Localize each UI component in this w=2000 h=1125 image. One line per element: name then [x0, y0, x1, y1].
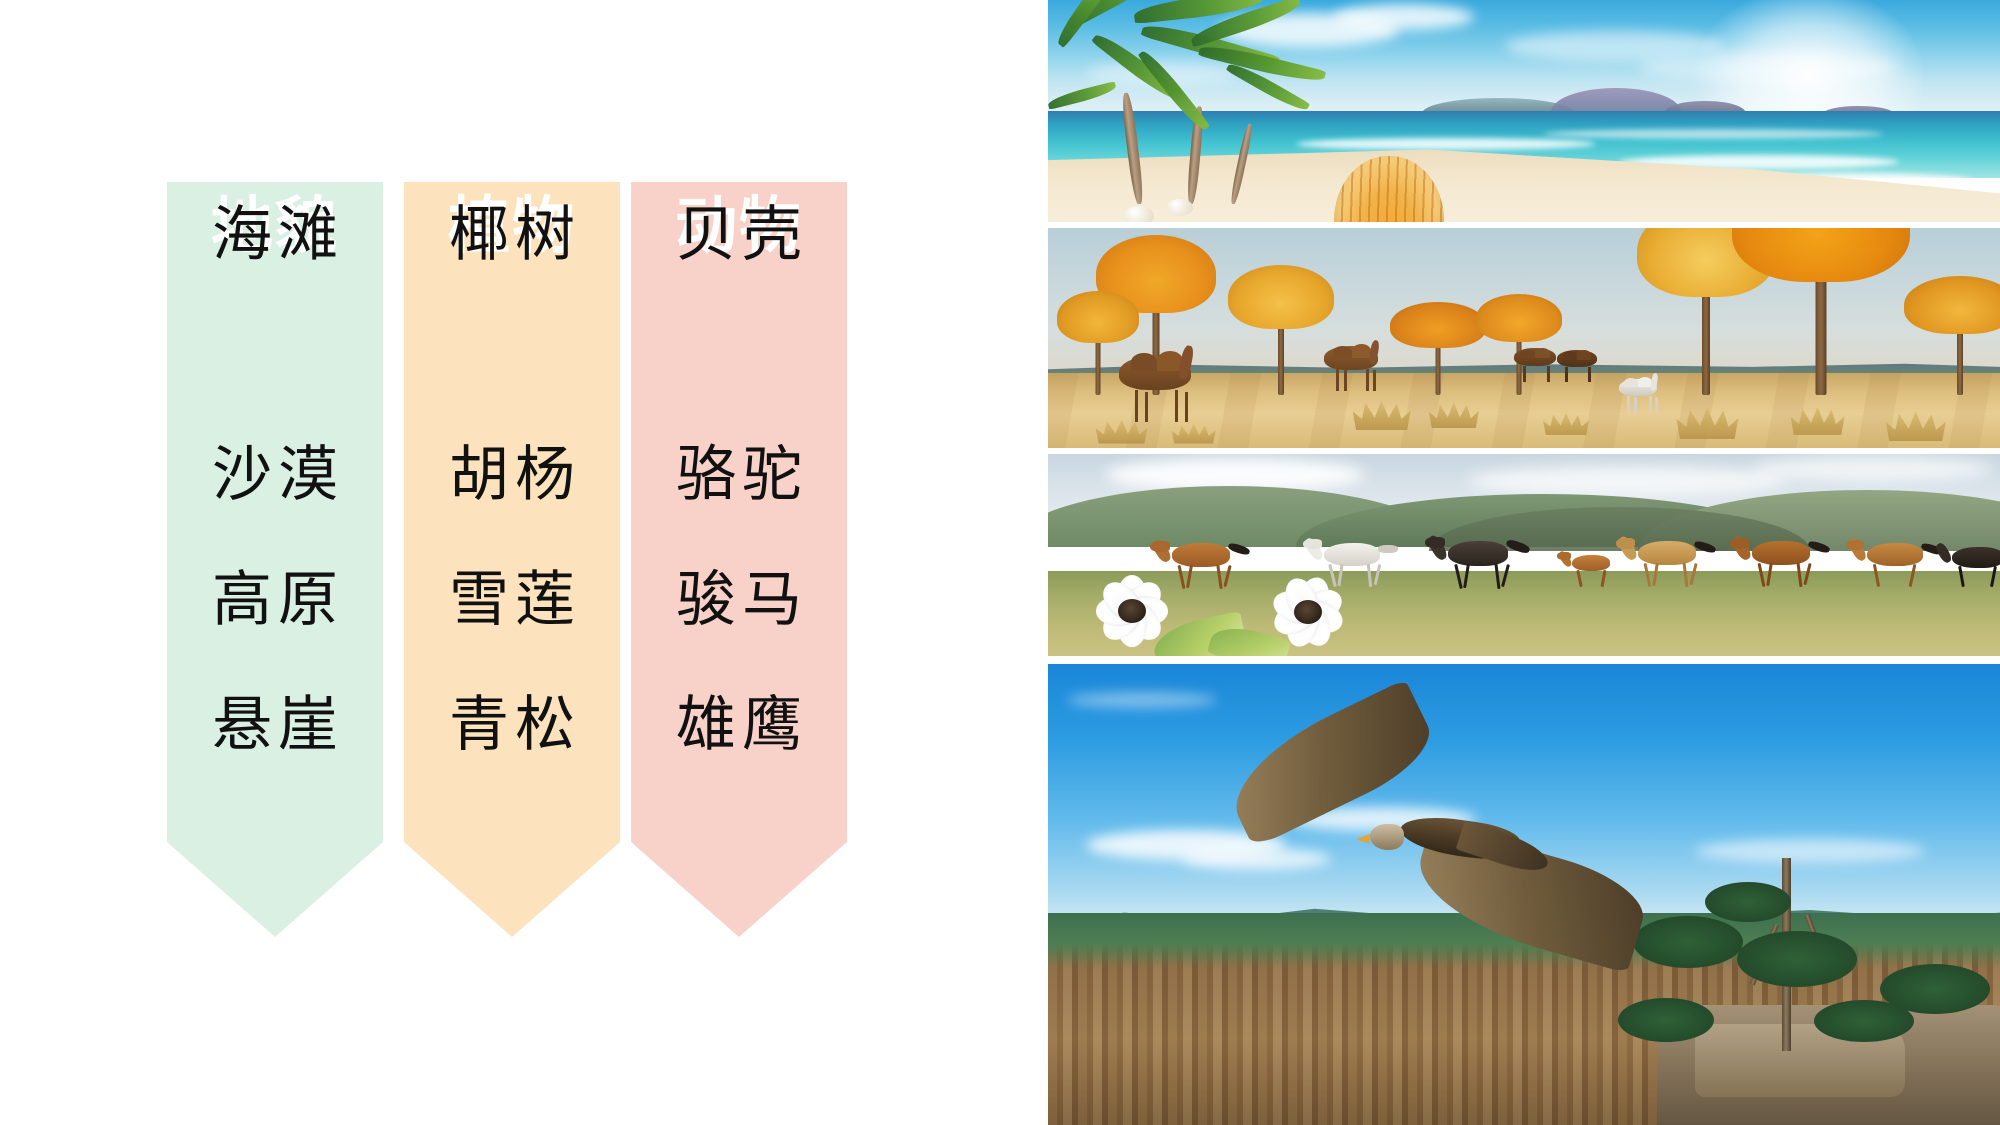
camel-leg [1634, 397, 1637, 413]
camel-leg [1145, 392, 1148, 422]
poplar-tree [1733, 228, 1908, 395]
camel-leg [1649, 396, 1652, 413]
horse-leg [1501, 564, 1509, 587]
horse [1448, 541, 1530, 591]
camel-hump [1624, 378, 1638, 387]
horse-tail [1505, 538, 1531, 555]
poplar-crown [1228, 265, 1334, 329]
horse-head [1616, 538, 1635, 549]
camel-leg [1336, 369, 1339, 391]
poplar-trunk [1278, 323, 1284, 395]
pine-foliage [1737, 931, 1857, 987]
camel-neck [1368, 340, 1380, 365]
horse-body [1638, 541, 1696, 565]
column-arrow-plants [404, 842, 620, 937]
camel-hump [1131, 353, 1157, 371]
beach-foam [1296, 138, 1596, 150]
cliff-scene [1048, 664, 2000, 1125]
horse-head [1150, 541, 1170, 552]
horse-head [1425, 537, 1445, 548]
horse-leg [1223, 565, 1231, 587]
camel-hump [1520, 349, 1535, 358]
poplar-crown [1057, 291, 1139, 343]
horse-leg [1644, 563, 1651, 587]
camel-leg [1135, 390, 1138, 422]
horse-leg [1767, 563, 1773, 586]
horse-tail [1808, 540, 1831, 554]
camel [1324, 335, 1394, 391]
category-column-animals[interactable]: 动物 [631, 182, 847, 902]
lotus-center [1118, 599, 1146, 623]
horse-leg [1873, 564, 1880, 587]
beach-pebble [1167, 199, 1193, 216]
camel-leg [1588, 367, 1591, 382]
column-arrow-animals [631, 842, 847, 937]
poplar-trunk [1702, 281, 1710, 395]
foal [1572, 555, 1624, 589]
eagle-beak [1356, 834, 1370, 844]
poplar-tree [1229, 275, 1334, 395]
horse-body [1952, 547, 2000, 568]
horse [1952, 547, 2000, 589]
horse-leg [1374, 564, 1381, 585]
photo-beach [1048, 0, 2000, 222]
horse-body [1752, 541, 1810, 565]
horse-head [1303, 539, 1322, 549]
poplar-trunk [1957, 330, 1963, 395]
poplar-tree [1391, 309, 1486, 395]
white-camel [1619, 369, 1669, 413]
plateau-cloud [1752, 456, 1992, 482]
column-body-landform [167, 182, 383, 842]
horse-leg [1690, 563, 1698, 585]
camel-leg [1523, 366, 1526, 382]
poplar-crown [1390, 302, 1486, 348]
horse-head [1846, 540, 1864, 550]
column-body-animals [631, 182, 847, 842]
horse-body [1867, 543, 1923, 566]
photo-desert [1048, 228, 2000, 448]
horse-body [1572, 555, 1610, 571]
camel-leg [1344, 370, 1347, 391]
camel-leg [1373, 370, 1376, 391]
horse-leg [1186, 565, 1192, 588]
horse-leg [1600, 570, 1605, 587]
camel-hump [1563, 351, 1577, 360]
horse-leg [1652, 563, 1658, 586]
horse-tail [1378, 545, 1398, 553]
horse-leg [1494, 564, 1500, 589]
camel-leg [1627, 396, 1630, 413]
horse-leg [1216, 565, 1222, 589]
cliff-cloud [1067, 692, 1217, 708]
camel [1557, 342, 1609, 382]
horse [1638, 541, 1718, 589]
poplar-crown [1732, 228, 1910, 282]
snow-lotus-flower [1077, 556, 1187, 656]
horse-leg [1463, 564, 1469, 588]
camel [1119, 340, 1211, 422]
camel-leg [1175, 390, 1178, 422]
horse-leg [1576, 570, 1582, 587]
photo-strip [1048, 0, 2000, 1125]
column-body-plants [404, 182, 620, 842]
horse-leg [1758, 563, 1765, 587]
category-table: 地貌 植物 动物 海滩 沙漠 高原 悬崖 椰树 胡杨 雪莲 青松 贝壳 骆驼 骏… [0, 0, 1040, 1125]
horse-leg [1454, 564, 1462, 589]
horse [1752, 541, 1832, 589]
horse-leg [1804, 563, 1812, 585]
horse-tail [1694, 540, 1717, 554]
snow-lotus-flower [1248, 552, 1368, 656]
plateau-cloud [1467, 466, 1787, 496]
category-column-landform[interactable]: 地貌 [167, 182, 383, 902]
desert-scene [1048, 228, 2000, 448]
poplar-trunk [1095, 340, 1100, 395]
horse-head [1557, 552, 1571, 560]
column-arrow-landform [167, 842, 383, 937]
poplar-crown [1476, 294, 1562, 342]
beach-scene [1048, 0, 2000, 222]
poplar-crown [1904, 276, 2000, 334]
horse-body [1448, 541, 1508, 566]
category-column-plants[interactable]: 植物 [404, 182, 620, 902]
camel-leg [1366, 369, 1369, 391]
slide-canvas: 地貌 植物 动物 海滩 沙漠 高原 悬崖 椰树 胡杨 雪莲 青松 贝壳 骆驼 骏… [0, 0, 2000, 1125]
beach-pebble [1124, 206, 1154, 222]
poplar-trunk [1815, 268, 1826, 395]
camel-hump [1535, 348, 1550, 358]
horse-leg [1990, 566, 1996, 587]
photo-plateau [1048, 454, 2000, 656]
pine-foliage [1618, 998, 1714, 1042]
plateau-scene [1048, 454, 2000, 656]
pine-foliage [1705, 882, 1791, 922]
photo-cliff [1048, 664, 2000, 1125]
beach-foam [1543, 129, 1883, 139]
camel-neck [1178, 345, 1196, 381]
camel-hump [1333, 346, 1352, 358]
camel-hump [1352, 344, 1371, 358]
horse [1867, 543, 1945, 589]
camel-leg [1185, 392, 1188, 422]
camel-leg [1655, 397, 1658, 413]
lotus-center [1294, 600, 1322, 624]
eagle-head [1370, 824, 1404, 850]
horse-leg [1683, 563, 1688, 587]
horse-leg [1908, 564, 1915, 587]
camel-neck [1650, 373, 1658, 392]
horse-leg [1797, 563, 1802, 587]
poplar-tree [1905, 283, 2000, 395]
horse-leg [1959, 566, 1965, 587]
camel-leg [1565, 367, 1568, 382]
eagle [1238, 738, 1658, 938]
poplar-trunk [1436, 347, 1441, 395]
camel-hump [1577, 350, 1591, 360]
camel-leg [1547, 366, 1550, 382]
horse-head [1730, 538, 1749, 549]
